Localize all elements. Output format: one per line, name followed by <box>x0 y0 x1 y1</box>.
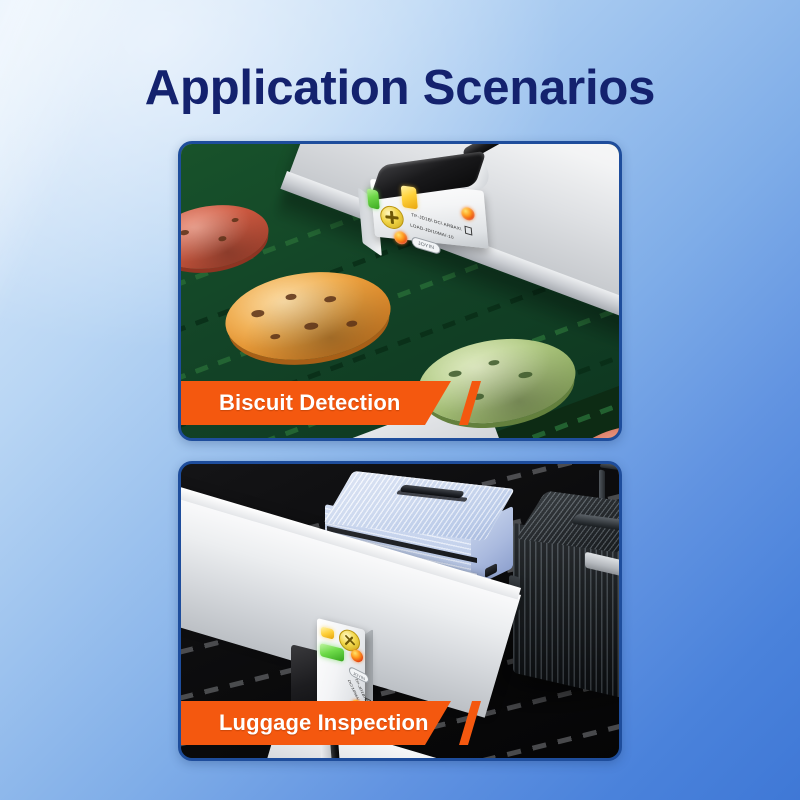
banner-accent-stripe <box>459 701 481 745</box>
chocolate-chip <box>285 293 297 300</box>
chocolate-chip <box>181 229 189 235</box>
banner-luggage-inspection[interactable]: Luggage Inspection <box>181 701 619 745</box>
luggage-scene: TP-JD1B\ D DC/10MA/-10 CE JOYIN Luggage … <box>181 464 619 758</box>
banner-label: Luggage Inspection <box>219 701 429 745</box>
brand-logo: JOYIN <box>411 236 441 255</box>
compliance-mark-icon <box>464 226 472 236</box>
chocolate-chip <box>324 295 337 302</box>
chocolate-chip <box>488 359 500 365</box>
yellow-indicator <box>401 185 418 209</box>
chocolate-chip <box>448 370 462 378</box>
biscuit-scene: TP-JD1B\ DC\ ARBAX\ LOAD-JD/10MA/-10 CE … <box>181 144 619 438</box>
chocolate-chip <box>232 218 240 223</box>
chocolate-chip <box>304 322 319 331</box>
suitcase-dark-charcoal <box>513 488 619 706</box>
page-title: Application Scenarios <box>0 60 800 116</box>
photoelectric-sensor-horizontal[interactable]: TP-JD1B\ DC\ ARBAX\ LOAD-JD/10MA/-10 CE … <box>369 157 505 264</box>
chocolate-chip <box>346 320 358 327</box>
chocolate-chip <box>250 309 264 318</box>
scenario-card-luggage-inspection[interactable]: TP-JD1B\ D DC/10MA/-10 CE JOYIN Luggage … <box>178 461 622 761</box>
green-indicator <box>367 188 380 210</box>
scenario-card-biscuit-detection[interactable]: TP-JD1B\ DC\ ARBAX\ LOAD-JD/10MA/-10 CE … <box>178 141 622 441</box>
chocolate-chip <box>218 236 227 242</box>
banner-accent-stripe <box>459 381 481 425</box>
banner-biscuit-detection[interactable]: Biscuit Detection <box>181 381 619 425</box>
banner-label: Biscuit Detection <box>219 381 400 425</box>
chocolate-chip <box>270 333 281 339</box>
chocolate-chip <box>518 371 533 379</box>
